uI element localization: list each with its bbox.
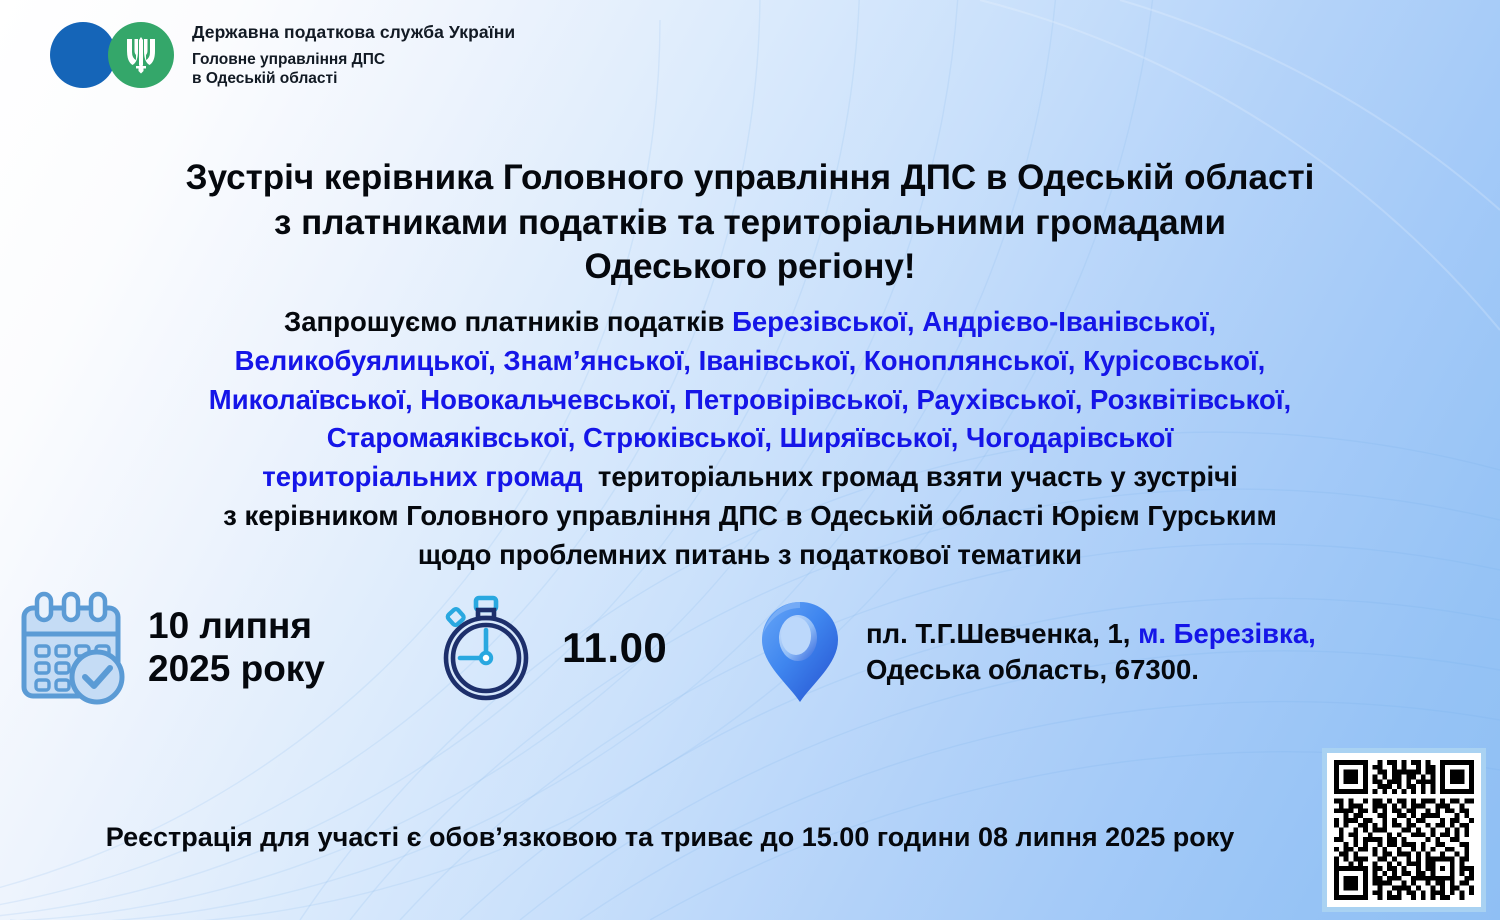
event-date-text: 10 липня 2025 року [148, 605, 325, 691]
location-line-2: Одеська область, 67300. [866, 652, 1316, 688]
title-line-3: Одеського регіону! [30, 245, 1470, 289]
body-line-6: з керівником Головного управління ДПС в … [28, 497, 1472, 536]
body-line-2-highlight: Великобуялицької, Знам’янської, Іванівсь… [28, 342, 1472, 381]
green-circle-trident-icon [108, 22, 174, 88]
body-line-4-highlight: Старомаяківської, Стрюківської, Ширяївсь… [28, 419, 1472, 458]
calendar-check-icon [8, 590, 134, 706]
body-line-7: щодо проблемних питань з податкової тема… [28, 536, 1472, 575]
event-time-block: 11.00 [432, 592, 667, 704]
brand-header: Державна податкова служба України Головн… [50, 22, 515, 88]
body-line-5: територіальних громад територіальних гро… [28, 458, 1472, 497]
body-line-1-prefix: Запрошуємо платників податків [284, 306, 732, 337]
body-line-5-highlight: територіальних громад [262, 461, 582, 492]
body-line-5-suffix: територіальних громад взяти участь у зус… [583, 461, 1238, 492]
event-time-text: 11.00 [562, 624, 667, 672]
event-location-text: пл. Т.Г.Шевченка, 1, м. Березівка, Одесь… [866, 616, 1316, 688]
location-line-1: пл. Т.Г.Шевченка, 1, м. Березівка, [866, 616, 1316, 652]
event-date-block: 10 липня 2025 року [8, 590, 325, 706]
body-line-3-highlight: Миколаївської, Новокальчевської, Петрові… [28, 381, 1472, 420]
brand-text-block: Державна податкова служба України Головн… [192, 22, 515, 88]
org-name: Державна податкова служба України [192, 22, 515, 43]
map-pin-icon [752, 596, 848, 708]
invitation-text: Запрошуємо платників податків Березівськ… [0, 303, 1500, 574]
page-title: Зустріч керівника Головного управління Д… [0, 156, 1500, 289]
title-line-2: з платниками податків та територіальними… [30, 201, 1470, 245]
department-name: Головне управління ДПС в Одеській област… [192, 51, 515, 88]
logo [50, 22, 178, 88]
location-street: пл. Т.Г.Шевченка, 1, [866, 618, 1138, 649]
qr-code[interactable] [1322, 748, 1486, 912]
registration-note: Реєстрація для участі є обов’язковою та … [22, 822, 1318, 853]
location-city-highlight: м. Березівка, [1138, 618, 1316, 649]
body-line-1-highlight: Березівської, Андрієво-Іванівської, [732, 306, 1216, 337]
blue-circle-icon [50, 22, 116, 88]
stopwatch-icon [432, 592, 540, 704]
body-line-1: Запрошуємо платників податків Березівськ… [28, 303, 1472, 342]
event-details-row: 10 липня 2025 року [0, 588, 1500, 716]
title-line-1: Зустріч керівника Головного управління Д… [30, 156, 1470, 200]
event-location-block: пл. Т.Г.Шевченка, 1, м. Березівка, Одесь… [752, 596, 1316, 708]
poster-canvas: Державна податкова служба України Головн… [0, 0, 1500, 920]
